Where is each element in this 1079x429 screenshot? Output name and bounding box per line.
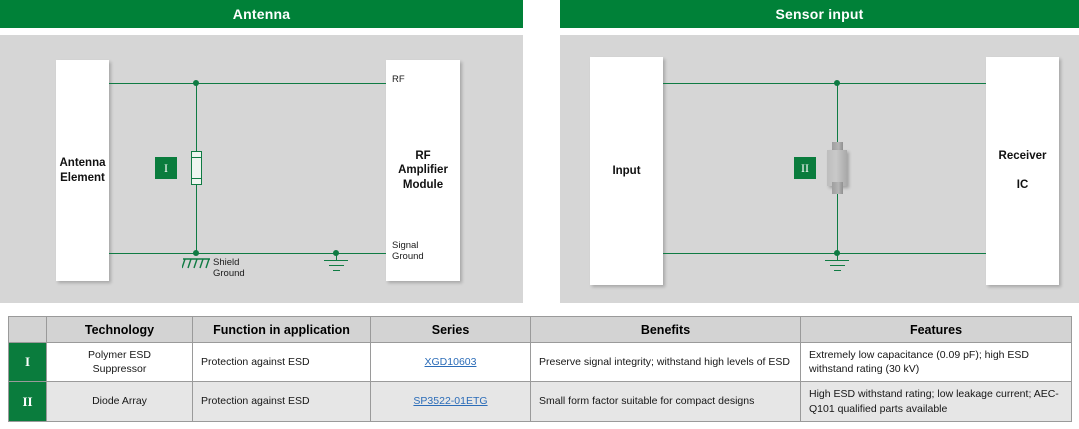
input-block: Input [590,57,663,285]
wire-signal-ground-stub [336,253,337,261]
series-link[interactable]: XGD10603 [425,356,477,368]
table-header-technology: Technology [47,317,193,343]
receiver-ic-block: Receiver IC [986,57,1059,285]
cell-benefits: Small form factor suitable for compact d… [531,382,801,421]
table-header-index [9,317,47,343]
cell-function: Protection against ESD [193,382,371,421]
node-sensor-top-shunt [834,80,840,86]
polymer-esd-suppressor-symbol [191,151,202,185]
spec-table: Technology Function in application Serie… [8,316,1072,422]
panel-sensor-input: Sensor input Input Receiver IC II [560,0,1079,303]
cell-benefits: Preserve signal integrity; withstand hig… [531,343,801,382]
signal-ground-icon [323,260,349,276]
signal-ground-pin-label: Signal Ground [392,241,424,263]
table-row: I Polymer ESD Suppressor Protection agai… [9,343,1072,382]
antenna-element-block: Antenna Element [56,60,109,281]
node-bottom-shunt [193,250,199,256]
panel-antenna-title: Antenna [0,0,523,28]
cell-function: Protection against ESD [193,343,371,382]
cell-features: Extremely low capacitance (0.09 pF); hig… [801,343,1072,382]
diagram-panels: Antenna Antenna Element RF Amplifier Mod… [0,0,1079,310]
panel-sensor-input-diagram: Input Receiver IC II [560,35,1079,303]
panel-antenna-diagram: Antenna Element RF Amplifier Module RF S… [0,35,523,303]
wire-sensor-signal [663,83,986,84]
cell-features: High ESD withstand rating; low leakage c… [801,382,1072,421]
cell-series: SP3522-01ETG [371,382,531,421]
table-header-function: Function in application [193,317,371,343]
shield-ground-icon [182,257,212,273]
marker-roman-ii: II [794,157,816,179]
marker-roman-i: I [155,157,177,179]
row-index-badge: I [9,343,47,382]
row-index-badge: II [9,382,47,421]
table-header-series: Series [371,317,531,343]
wire-sensor-ground-rail [663,253,986,254]
cell-technology: Polymer ESD Suppressor [47,343,193,382]
sensor-ground-icon [824,260,850,276]
wire-rf-signal [109,83,386,84]
panel-antenna: Antenna Antenna Element RF Amplifier Mod… [0,0,523,303]
table-row: II Diode Array Protection against ESD SP… [9,382,1072,421]
cell-series: XGD10603 [371,343,531,382]
table-header-benefits: Benefits [531,317,801,343]
node-top-shunt [193,80,199,86]
cell-technology: Diode Array [47,382,193,421]
table-header-features: Features [801,317,1072,343]
shield-ground-label: Shield Ground [213,258,245,280]
rf-pin-label: RF [392,75,405,86]
spec-table-container: Technology Function in application Serie… [8,316,1071,422]
diode-array-package-symbol [824,142,850,194]
wire-ground-rail [109,253,386,254]
series-link[interactable]: SP3522-01ETG [413,395,487,407]
panel-sensor-input-title: Sensor input [560,0,1079,28]
table-header-row: Technology Function in application Serie… [9,317,1072,343]
